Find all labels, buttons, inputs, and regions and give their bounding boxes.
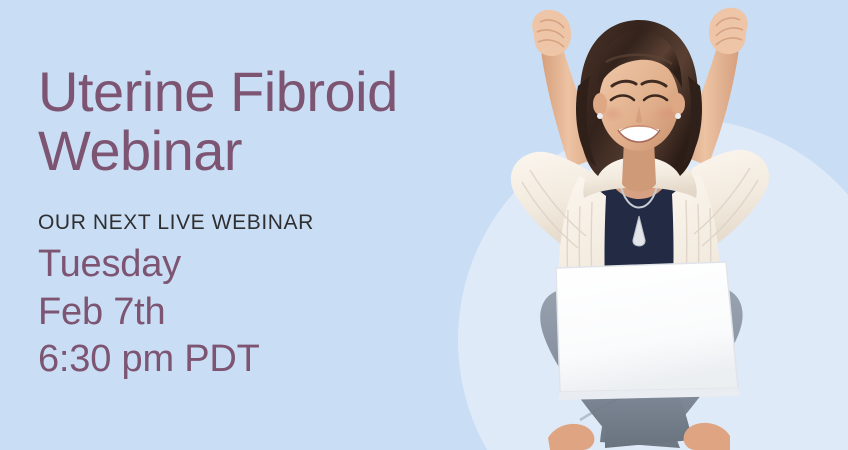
- webinar-banner: Uterine Fibroid Webinar OUR NEXT LIVE WE…: [0, 0, 848, 450]
- copy-block: Uterine Fibroid Webinar OUR NEXT LIVE WE…: [38, 62, 468, 384]
- event-date: Feb 7th: [38, 289, 468, 337]
- event-details: Tuesday Feb 7th 6:30 pm PDT: [38, 241, 468, 385]
- laptop: [556, 262, 740, 400]
- event-time: 6:30 pm PDT: [38, 336, 468, 384]
- eyebrow-label: OUR NEXT LIVE WEBINAR: [38, 211, 468, 235]
- event-day: Tuesday: [38, 241, 468, 289]
- page-title: Uterine Fibroid Webinar: [38, 62, 468, 181]
- hero-photo-woman-with-laptop: [430, 0, 848, 450]
